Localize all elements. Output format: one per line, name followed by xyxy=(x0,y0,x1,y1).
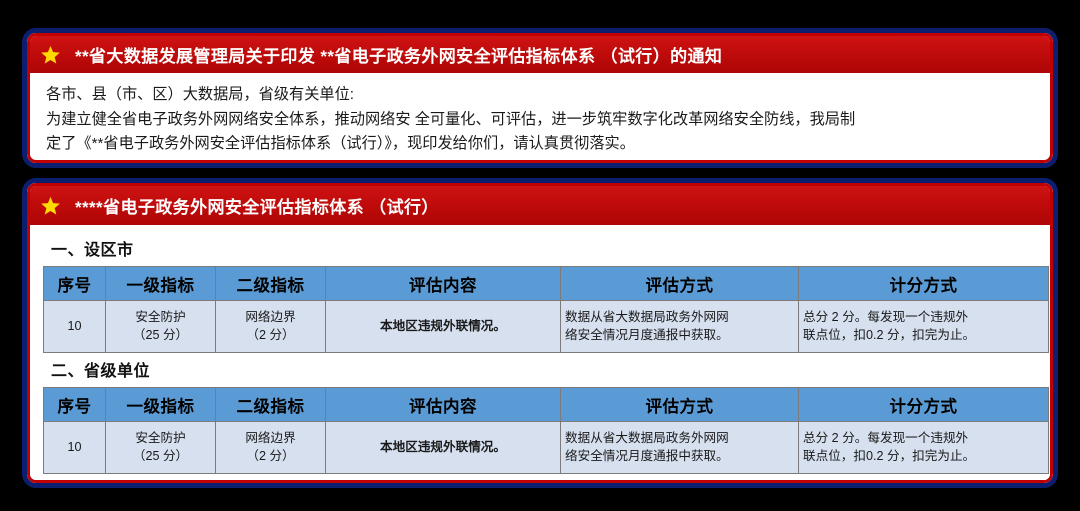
cell-scoring: 总分 2 分。每发现一个违规外 联点位，扣0.2 分，扣完为止。 xyxy=(799,301,1049,353)
standard-title-bar: ****省电子政务外网安全评估指标体系 （试行） xyxy=(30,186,1050,225)
table-header-row: 序号 一级指标 二级指标 评估内容 评估方式 计分方式 xyxy=(44,267,1049,301)
cell-scoring-line1: 总分 2 分。每发现一个违规外 xyxy=(803,309,1044,327)
col-header-content: 评估内容 xyxy=(326,388,561,422)
standard-card-inner: ****省电子政务外网安全评估指标体系 （试行） 一、设区市 xyxy=(27,183,1053,483)
col-header-level2: 二级指标 xyxy=(216,388,326,422)
star-icon xyxy=(40,196,61,216)
col-header-no: 序号 xyxy=(44,388,106,422)
standard-title: ****省电子政务外网安全评估指标体系 （试行） xyxy=(75,193,439,218)
notice-card-inner: **省大数据发展管理局关于印发 **省电子政务外网安全评估指标体系 （试行）的通… xyxy=(27,33,1053,163)
notice-title-bar: **省大数据发展管理局关于印发 **省电子政务外网安全评估指标体系 （试行）的通… xyxy=(30,36,1050,73)
cell-level1-line2: （25 分） xyxy=(110,327,211,345)
cell-scoring-line2: 联点位，扣0.2 分，扣完为止。 xyxy=(803,448,1044,466)
cell-method-line1: 数据从省大数据局政务外网网 xyxy=(565,430,794,448)
cell-level1-line1: 安全防护 xyxy=(110,430,211,448)
cell-method: 数据从省大数据局政务外网网 络安全情况月度通报中获取。 xyxy=(561,422,799,474)
cell-level1: 安全防护 （25 分） xyxy=(106,422,216,474)
cell-level1-line1: 安全防护 xyxy=(110,309,211,327)
cell-level2: 网络边界 （2 分） xyxy=(216,422,326,474)
cell-scoring-line1: 总分 2 分。每发现一个违规外 xyxy=(803,430,1044,448)
col-header-scoring: 计分方式 xyxy=(799,267,1049,301)
notice-body-line-3: 定了《**省电子政务外网安全评估指标体系（试行）》，现印发给你们，请认真贯彻落实… xyxy=(46,132,1036,157)
cell-method-line2: 络安全情况月度通报中获取。 xyxy=(565,327,794,345)
notice-title: **省大数据发展管理局关于印发 **省电子政务外网安全评估指标体系 （试行）的通… xyxy=(75,42,722,67)
cell-scoring: 总分 2 分。每发现一个违规外 联点位，扣0.2 分，扣完为止。 xyxy=(799,422,1049,474)
col-header-no: 序号 xyxy=(44,267,106,301)
cell-content: 本地区违规外联情况。 xyxy=(326,422,561,474)
notice-body-line-1: 各市、县（市、区）大数据局，省级有关单位: xyxy=(46,83,1036,108)
cell-scoring-line2: 联点位，扣0.2 分，扣完为止。 xyxy=(803,327,1044,345)
cell-level1: 安全防护 （25 分） xyxy=(106,301,216,353)
cell-level2-line1: 网络边界 xyxy=(220,309,321,327)
cell-no: 10 xyxy=(44,301,106,353)
table-row: 10 安全防护 （25 分） 网络边界 （2 分） 本地区违规外联情况。 xyxy=(44,422,1049,474)
col-header-level2: 二级指标 xyxy=(216,267,326,301)
standard-body: 一、设区市 序号 一级指标 二级指标 xyxy=(30,225,1050,483)
eval-table-provincial: 序号 一级指标 二级指标 评估内容 评估方式 计分方式 10 安全防护 xyxy=(43,387,1049,474)
col-header-level1: 一级指标 xyxy=(106,388,216,422)
col-header-content: 评估内容 xyxy=(326,267,561,301)
col-header-method: 评估方式 xyxy=(561,388,799,422)
col-header-level1: 一级指标 xyxy=(106,267,216,301)
col-header-scoring: 计分方式 xyxy=(799,388,1049,422)
notice-body-line-2: 为建立健全省电子政务外网网络安全体系，推动网络安 全可量化、可评估，进一步筑牢数… xyxy=(46,108,1036,133)
notice-card: **省大数据发展管理局关于印发 **省电子政务外网安全评估指标体系 （试行）的通… xyxy=(22,28,1058,168)
cell-level2: 网络边界 （2 分） xyxy=(216,301,326,353)
cell-level1-line2: （25 分） xyxy=(110,448,211,466)
cell-level2-line2: （2 分） xyxy=(220,327,321,345)
cell-method-line1: 数据从省大数据局政务外网网 xyxy=(565,309,794,327)
cell-content: 本地区违规外联情况。 xyxy=(326,301,561,353)
notice-body: 各市、县（市、区）大数据局，省级有关单位: 为建立健全省电子政务外网网络安全体系… xyxy=(30,73,1050,163)
table-header-row: 序号 一级指标 二级指标 评估内容 评估方式 计分方式 xyxy=(44,388,1049,422)
star-icon xyxy=(40,45,61,65)
cell-level2-line1: 网络边界 xyxy=(220,430,321,448)
section-heading-city: 一、设区市 xyxy=(51,236,1037,260)
slide-canvas: **省大数据发展管理局关于印发 **省电子政务外网安全评估指标体系 （试行）的通… xyxy=(0,0,1080,511)
cell-no: 10 xyxy=(44,422,106,474)
eval-table-city: 序号 一级指标 二级指标 评估内容 评估方式 计分方式 10 安全防护 xyxy=(43,266,1049,353)
cell-method-line2: 络安全情况月度通报中获取。 xyxy=(565,448,794,466)
section-heading-provincial: 二、省级单位 xyxy=(51,357,1037,381)
table-row: 10 安全防护 （25 分） 网络边界 （2 分） 本地区违规外联情况。 xyxy=(44,301,1049,353)
col-header-method: 评估方式 xyxy=(561,267,799,301)
cell-method: 数据从省大数据局政务外网网 络安全情况月度通报中获取。 xyxy=(561,301,799,353)
cell-level2-line2: （2 分） xyxy=(220,448,321,466)
standard-card: ****省电子政务外网安全评估指标体系 （试行） 一、设区市 xyxy=(22,178,1058,488)
